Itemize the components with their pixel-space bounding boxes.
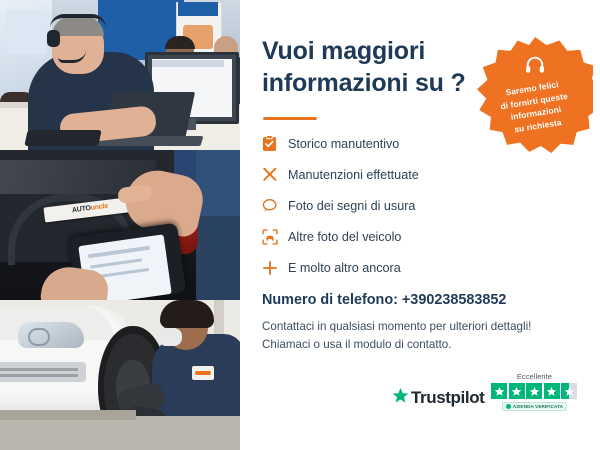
trustpilot-widget[interactable]: Trustpilot Eccellente AZIENDA VERIFICATA <box>392 372 577 411</box>
star-filled-icon <box>544 383 560 399</box>
uniform-logo-patch <box>192 366 214 380</box>
headset-band <box>50 14 106 28</box>
verified-check-icon <box>506 404 511 409</box>
info-panel: Vuoi maggiori informazioni su ? Saremo f… <box>240 0 600 450</box>
contact-text: Contattaci in qualsiasi momento per ulte… <box>262 318 531 353</box>
feature-item-storico-manutentivo[interactable]: Storico manutentivo <box>262 130 502 157</box>
trustpilot-rating-label: Eccellente <box>517 372 552 381</box>
poster-header-band <box>178 2 218 16</box>
mechanic-hair <box>160 300 214 328</box>
feature-label: Altre foto del veicolo <box>288 230 401 244</box>
trustpilot-wordmark: Trustpilot <box>411 388 484 408</box>
photo-call-center-agents-with-headsets <box>0 0 240 150</box>
clipboard-check-icon <box>262 135 288 152</box>
verified-company-label: AZIENDA VERIFICATA <box>513 404 563 409</box>
photo-column: AUTOuncle <box>0 0 240 450</box>
car-lower-grille <box>0 362 86 382</box>
trustpilot-rating: Eccellente AZIENDA VERIFICATA <box>491 372 577 411</box>
car-headlight <box>18 322 84 348</box>
feature-label: Manutenzioni effettuate <box>288 168 419 182</box>
plus-icon <box>262 260 288 276</box>
page-title-line-2: informazioni su ? <box>262 68 492 100</box>
star-filled-icon <box>509 383 525 399</box>
page-title-line-1: Vuoi maggiori <box>262 36 492 68</box>
star-filled-icon <box>526 383 542 399</box>
title-divider <box>263 117 317 120</box>
feature-item-manutenzioni-effettuate[interactable]: Manutenzioni effettuate <box>262 161 502 188</box>
trustpilot-star-icon <box>392 387 409 409</box>
contact-line-2: Chiamaci o usa il modulo di contatto. <box>262 336 531 354</box>
promo-card: AUTOuncle <box>0 0 600 450</box>
photo-frame-car-icon <box>262 229 288 245</box>
verified-company-badge: AZIENDA VERIFICATA <box>502 402 567 411</box>
feature-item-altre-foto-veicolo[interactable]: Altre foto del veicolo <box>262 223 502 250</box>
monitor-screen-toolbar <box>152 60 224 67</box>
tools-cross-icon <box>262 166 288 183</box>
photo-technician-inspecting-car-with-tablet: AUTOuncle <box>0 150 240 300</box>
blue-background-wall-2 <box>196 150 240 300</box>
feature-item-foto-segni-usura[interactable]: Foto dei segni di usura <box>262 192 502 219</box>
star-half-icon <box>561 383 577 399</box>
star-filled-icon <box>491 383 507 399</box>
feature-label: Foto dei segni di usura <box>288 199 415 213</box>
speech-bubble-icon <box>262 198 288 213</box>
strip-logo-text: AUTOuncle <box>72 203 109 214</box>
feature-list: Storico manutentivo Manutenzioni effettu… <box>262 130 502 285</box>
window-pane <box>6 10 46 54</box>
car-lift-arm <box>0 410 136 420</box>
phone-number[interactable]: Numero di telefono: +390238583852 <box>262 292 506 308</box>
trustpilot-logo: Trustpilot <box>392 387 484 411</box>
feature-label: Storico manutentivo <box>288 137 399 151</box>
feature-label: E molto altro ancora <box>288 261 401 275</box>
feature-item-molto-altro[interactable]: E molto altro ancora <box>262 254 502 281</box>
headset-icon <box>524 55 546 80</box>
desk-tablet <box>24 130 101 146</box>
mechanic-face-mask <box>158 328 182 346</box>
photo-mechanic-working-on-white-car-wheel <box>0 300 240 450</box>
car-lift-platform <box>0 416 240 450</box>
headset-earcup <box>47 30 60 47</box>
trustpilot-stars <box>491 383 577 399</box>
page-title: Vuoi maggiori informazioni su ? <box>262 36 492 99</box>
contact-line-1: Contattaci in qualsiasi momento per ulte… <box>262 318 531 336</box>
